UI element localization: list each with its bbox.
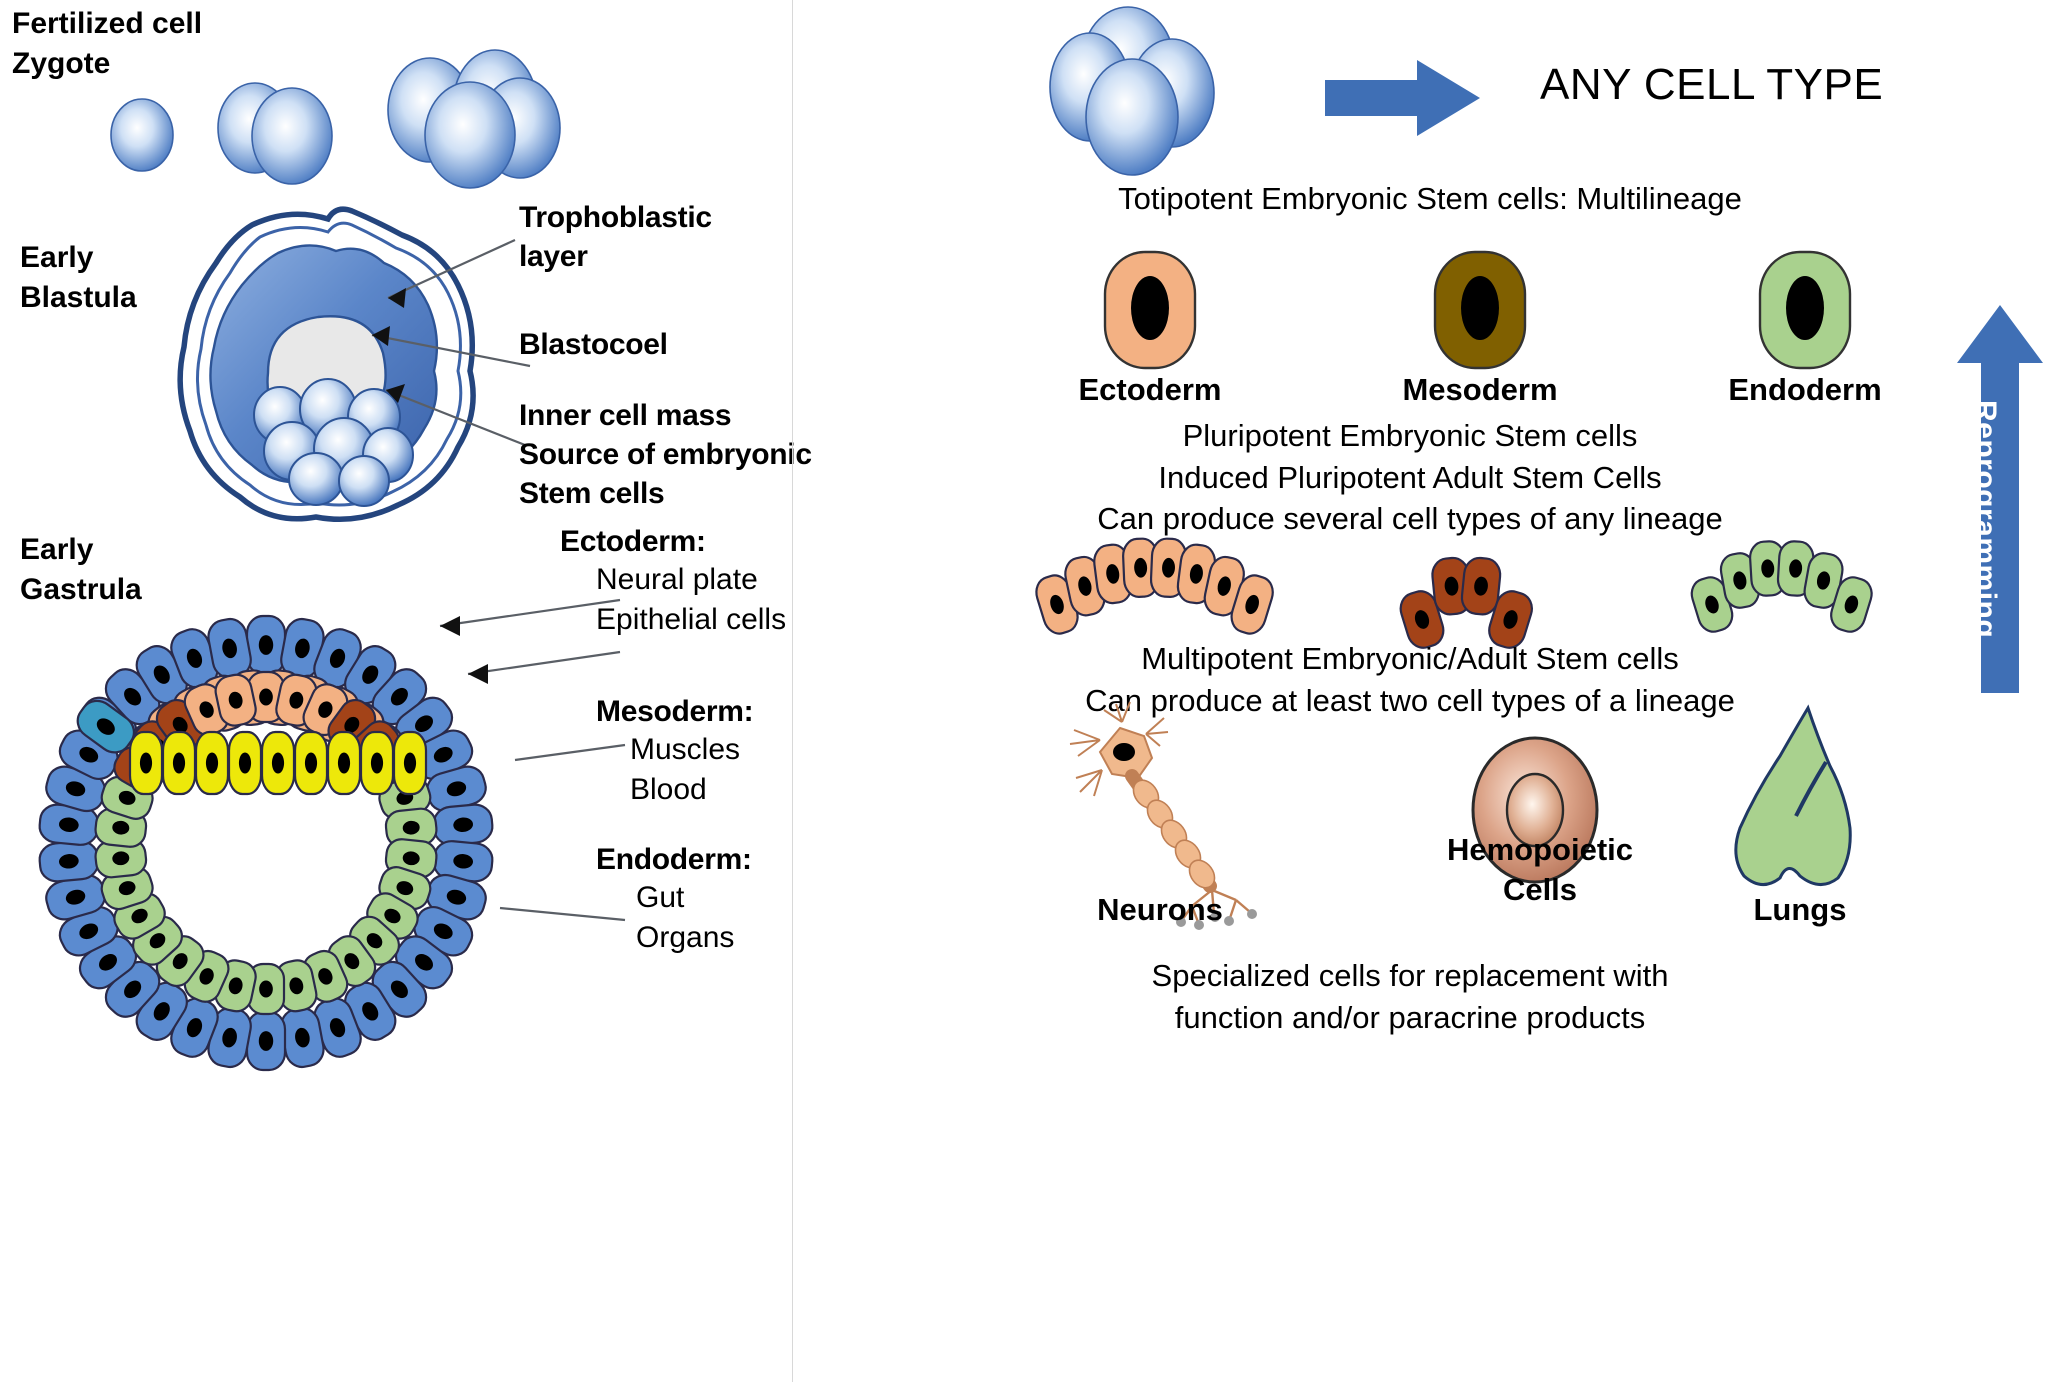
gastrula-endoderm-items: Gut Organs (636, 878, 734, 957)
gastrula-ectoderm-items: Neural plate Epithelial cells (596, 560, 786, 639)
multipotent-endoderm-cluster (1690, 525, 1910, 635)
multipotent-ectoderm-cluster (1035, 525, 1295, 635)
gastrula-leader-lines (380, 590, 640, 950)
lungs-label: Lungs (1700, 890, 1900, 930)
ectoderm-label: Ectoderm (1060, 372, 1240, 408)
gastrula-endoderm-title: Endoderm: (596, 840, 752, 879)
endoderm-label: Endoderm (1715, 372, 1895, 408)
multipotent-mesoderm-cluster (1400, 540, 1580, 650)
zygote-cleavage-diagram (100, 10, 660, 190)
any-cell-type-text: ANY CELL TYPE (1540, 60, 1883, 110)
any-cell-type-arrow-icon (1325, 58, 1485, 138)
blastocoel-label: Blastocoel (519, 325, 668, 364)
trophoblastic-layer-label: Trophoblastic layer (519, 198, 712, 276)
lungs-icon (1700, 700, 1900, 900)
gastrula-ectoderm-title: Ectoderm: (560, 522, 706, 561)
column-divider (792, 0, 793, 1382)
pluripotent-caption: Pluripotent Embryonic Stem cells Induced… (840, 415, 1980, 540)
gastrula-mesoderm-items: Muscles Blood (630, 730, 740, 809)
mesoderm-label: Mesoderm (1390, 372, 1570, 408)
reprogramming-label: Reprogramming (1968, 400, 2002, 638)
neurons-label: Neurons (1050, 890, 1270, 930)
totipotent-caption: Totipotent Embryonic Stem cells: Multili… (840, 178, 2020, 220)
ectoderm-cell-icon (1090, 248, 1210, 373)
hemopoietic-cells-label: Hemopoietic Cells (1410, 830, 1670, 909)
mesoderm-cell-icon (1420, 248, 1540, 373)
endoderm-cell-icon (1745, 248, 1865, 373)
blastula-stage-label: Early Blastula (20, 238, 137, 317)
totipotent-embryo-cluster (1040, 5, 1270, 195)
specialized-caption: Specialized cells for replacement with f… (840, 955, 1980, 1038)
gastrula-mesoderm-title: Mesoderm: (596, 692, 753, 731)
inner-cell-mass-label: Inner cell mass Source of embryonic Stem… (519, 396, 812, 513)
